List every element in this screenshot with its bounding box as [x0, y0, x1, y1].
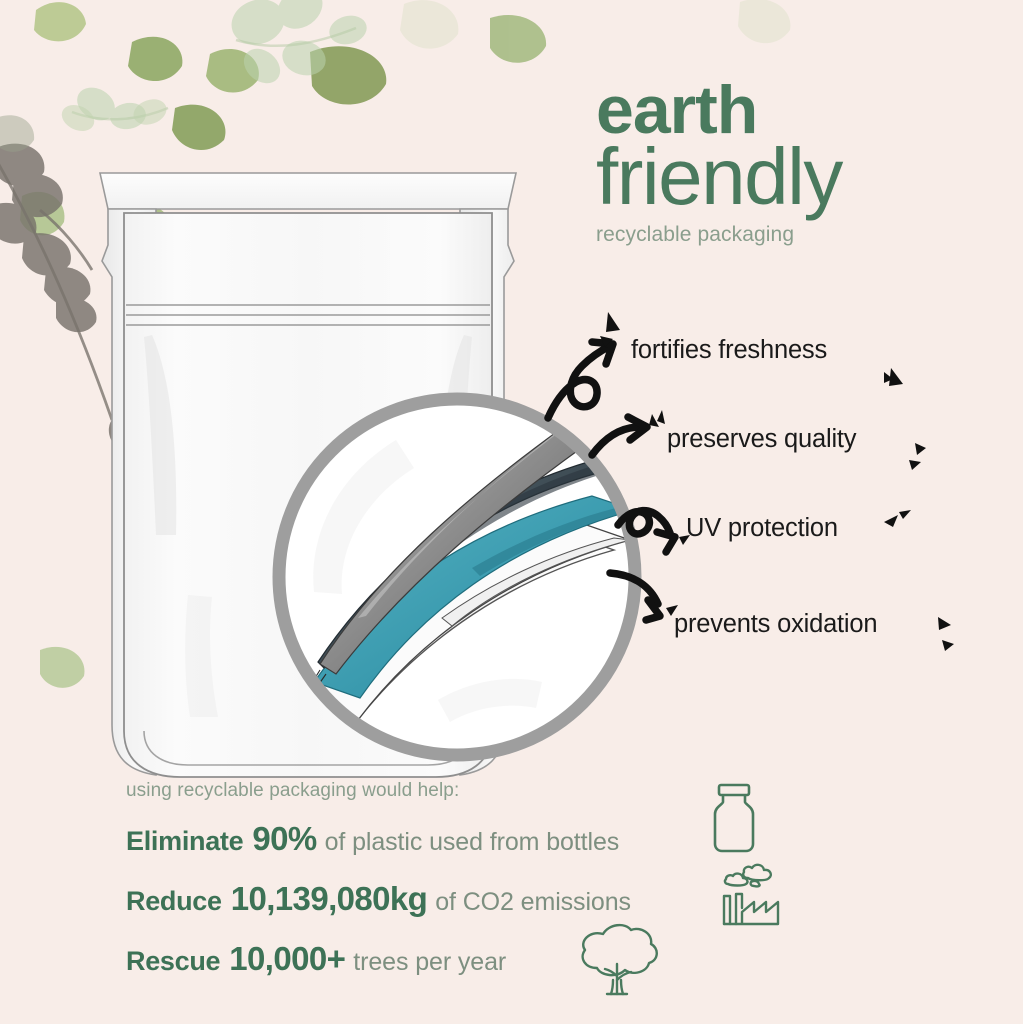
stat-rest: trees per year	[353, 948, 506, 977]
statistics-block: using recyclable packaging would help: E…	[126, 780, 906, 1000]
infographic-canvas: earth friendly recyclable packaging fort…	[0, 0, 1023, 1024]
feature-label-prevents-oxidation: prevents oxidation	[674, 610, 877, 639]
headline-block: earth friendly recyclable packaging	[596, 78, 1016, 247]
stat-rest: of CO2 emissions	[435, 888, 631, 917]
feature-label-preserves-quality: preserves quality	[667, 425, 856, 454]
bottle-icon	[706, 782, 762, 856]
stat-row-reduce: Reduce 10,139,080kg of CO2 emissions	[126, 880, 906, 918]
stat-rest: of plastic used from bottles	[325, 828, 620, 857]
headline-line-2: friendly	[596, 139, 1016, 215]
magnified-film-layers	[262, 382, 652, 772]
stats-intro-text: using recyclable packaging would help:	[126, 780, 906, 802]
headline-subtitle: recyclable packaging	[596, 223, 1016, 247]
stat-verb: Reduce	[126, 886, 222, 917]
stat-verb: Eliminate	[126, 826, 243, 857]
stat-row-rescue: Rescue 10,000+ trees per year	[126, 940, 906, 978]
feature-label-fortifies-freshness: fortifies freshness	[631, 336, 827, 365]
tree-icon	[573, 918, 661, 998]
stat-value: 10,139,080kg	[231, 880, 427, 918]
stat-row-eliminate: Eliminate 90% of plastic used from bottl…	[126, 820, 906, 858]
stat-value: 10,000+	[229, 940, 345, 978]
stat-value: 90%	[252, 820, 316, 858]
stat-verb: Rescue	[126, 946, 220, 977]
feature-label-uv-protection: UV protection	[686, 514, 838, 543]
factory-icon	[718, 858, 784, 930]
